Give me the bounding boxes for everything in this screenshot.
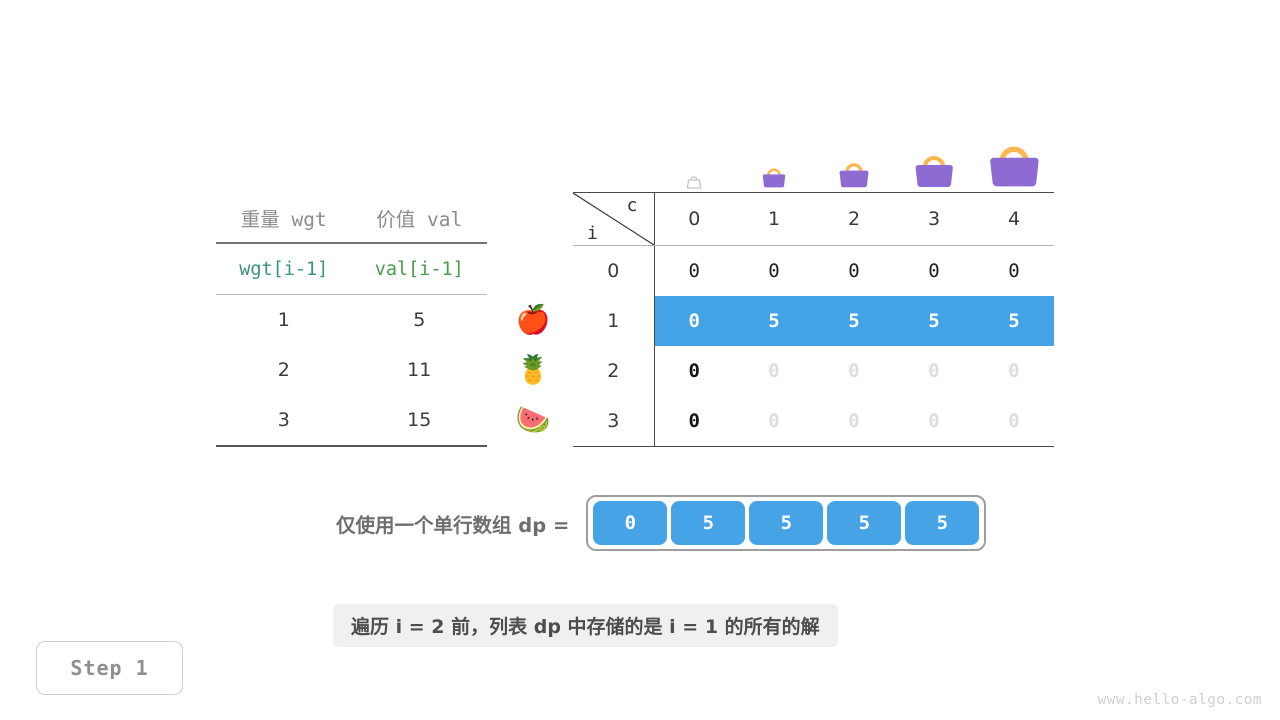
dp-row-2: 2 0 0 0 0 0: [573, 346, 1054, 396]
dp-row-1: 1 0 5 5 5 5: [573, 296, 1054, 346]
dp-array-cell-2: 5: [749, 501, 823, 545]
dp-cell-0-4: 0: [974, 246, 1054, 297]
dp-array-container: 0 5 5 5 5: [586, 495, 986, 551]
item-icons-column: 🍎 🍍 🍉: [508, 295, 558, 445]
items-row-3-wgt: 3: [216, 395, 352, 446]
dp-header-row: i c 0 1 2 3 4: [573, 193, 1054, 246]
dp-col-header-4: 4: [974, 193, 1054, 246]
pineapple-icon: 🍍: [508, 345, 558, 395]
dp-axis-col-label: c: [627, 195, 638, 216]
items-row-2: 2 11: [216, 345, 487, 395]
capacity-bag-row: [573, 122, 1054, 192]
bag-icon-1: [734, 160, 814, 192]
bag-icon-3: [894, 146, 974, 192]
bag-icon-2: [814, 154, 894, 192]
dp-table: i c 0 1 2 3 4 0 0 0 0 0 0 1 0: [573, 192, 1054, 447]
dp-axis-corner: i c: [573, 193, 654, 246]
dp-cell-1-2: 5: [814, 296, 894, 346]
bag-icon-0: [654, 172, 734, 192]
caption-text: 遍历 i = 2 前，列表 dp 中存储的是 i = 1 的所有的解: [333, 604, 838, 647]
dp-cell-3-4: 0: [974, 396, 1054, 447]
diagonal-divider-icon: [573, 193, 654, 245]
dp-cell-3-3: 0: [894, 396, 974, 447]
dp-cell-0-2: 0: [814, 246, 894, 297]
dp-cell-3-1: 0: [734, 396, 814, 447]
dp-cell-0-1: 0: [734, 246, 814, 297]
dp-row-3: 3 0 0 0 0 0: [573, 396, 1054, 447]
items-table-subheader-row: wgt[i-1] val[i-1]: [216, 243, 487, 295]
dp-cell-2-4: 0: [974, 346, 1054, 396]
step-badge: Step 1: [36, 641, 183, 695]
dp-col-header-3: 3: [894, 193, 974, 246]
dp-array-cell-0: 0: [593, 501, 667, 545]
dp-cell-3-0: 0: [654, 396, 734, 447]
apple-icon: 🍎: [508, 295, 558, 345]
dp-axis-row-label: i: [587, 223, 598, 244]
watermark: www.hello-algo.com: [1098, 692, 1262, 708]
dp-row-label-2: 2: [573, 346, 654, 396]
dp-row-label-1: 1: [573, 296, 654, 346]
dp-row-label-0: 0: [573, 246, 654, 297]
dp-array-cell-4: 5: [905, 501, 979, 545]
items-row-1: 1 5: [216, 295, 487, 346]
dp-cell-2-3: 0: [894, 346, 974, 396]
dp-col-header-1: 1: [734, 193, 814, 246]
items-subheader-val: val[i-1]: [352, 243, 488, 295]
dp-row-0: 0 0 0 0 0 0: [573, 246, 1054, 297]
dp-cell-2-2: 0: [814, 346, 894, 396]
items-row-2-wgt: 2: [216, 345, 352, 395]
bag-icon-4: [974, 136, 1054, 192]
dp-array-cell-3: 5: [827, 501, 901, 545]
items-row-2-val: 11: [352, 345, 488, 395]
items-header-wgt: 重量 wgt: [216, 192, 352, 243]
dp-col-header-2: 2: [814, 193, 894, 246]
dp-cell-2-0: 0: [654, 346, 734, 396]
items-subheader-wgt: wgt[i-1]: [216, 243, 352, 295]
dp-cell-1-3: 5: [894, 296, 974, 346]
items-table-header-row: 重量 wgt 价值 val: [216, 192, 487, 243]
dp-table-grid: i c 0 1 2 3 4 0 0 0 0 0 0 1 0: [573, 192, 1054, 447]
dp-array-section: 仅使用一个单行数组 dp = 0 5 5 5 5: [336, 497, 986, 549]
dp-cell-1-1: 5: [734, 296, 814, 346]
dp-cell-3-2: 0: [814, 396, 894, 447]
items-row-3: 3 15: [216, 395, 487, 446]
dp-cell-1-4: 5: [974, 296, 1054, 346]
dp-row-label-3: 3: [573, 396, 654, 447]
items-row-1-val: 5: [352, 295, 488, 346]
dp-cell-0-3: 0: [894, 246, 974, 297]
items-row-3-val: 15: [352, 395, 488, 446]
dp-array-cell-1: 5: [671, 501, 745, 545]
items-row-1-wgt: 1: [216, 295, 352, 346]
items-header-val: 价值 val: [352, 192, 488, 243]
items-table: 重量 wgt 价值 val wgt[i-1] val[i-1] 1 5 2 11…: [216, 192, 487, 447]
dp-cell-0-0: 0: [654, 246, 734, 297]
dp-cell-1-0: 0: [654, 296, 734, 346]
watermelon-icon: 🍉: [508, 395, 558, 445]
items-table-grid: 重量 wgt 价值 val wgt[i-1] val[i-1] 1 5 2 11…: [216, 192, 487, 447]
dp-array-label: 仅使用一个单行数组 dp =: [336, 509, 569, 538]
dp-col-header-0: 0: [654, 193, 734, 246]
dp-cell-2-1: 0: [734, 346, 814, 396]
